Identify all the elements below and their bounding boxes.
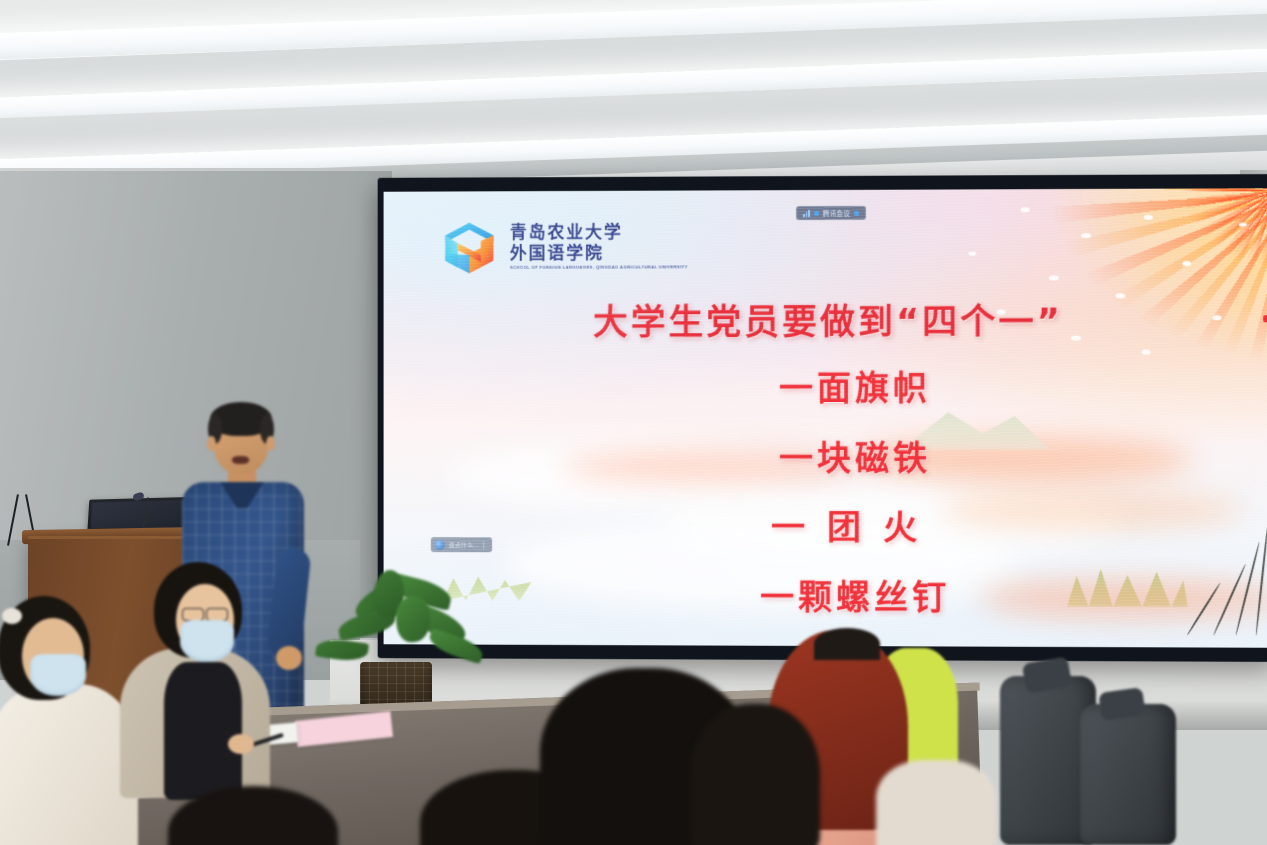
sparkle xyxy=(1182,261,1191,266)
face-mask xyxy=(30,654,86,696)
tencent-meeting-pill[interactable]: 腾讯会议 xyxy=(796,206,866,220)
wall-seam xyxy=(0,168,392,171)
sparkle xyxy=(1021,207,1030,212)
attendee-hair-top xyxy=(814,628,880,660)
slide-line-2: 一块磁铁 xyxy=(411,442,1267,478)
slide-line-4: 一颗螺丝钉 xyxy=(411,580,1267,619)
slide-body-lines: 一面旗帜 一块磁铁 一团火 一颗螺丝钉 xyxy=(384,372,1267,648)
sparkle xyxy=(1239,223,1247,227)
logo-line-1: 青岛农业大学 xyxy=(510,224,688,244)
sparkle xyxy=(1142,350,1151,355)
hair-clip xyxy=(2,608,22,624)
attendee-right-second xyxy=(690,704,820,845)
presenter-mouth xyxy=(232,456,249,464)
attendee-front-left xyxy=(0,596,138,845)
signal-bars-icon xyxy=(803,210,810,217)
status-dot-icon xyxy=(854,210,859,215)
ceiling xyxy=(0,0,1267,180)
sparkle xyxy=(968,252,976,256)
attendee-hair xyxy=(690,704,820,845)
presenter-ear xyxy=(207,436,216,451)
comment-input[interactable]: 说点什么... xyxy=(449,540,480,549)
attendee-jacket xyxy=(0,684,138,845)
sparkle xyxy=(1081,233,1091,238)
attendee-top xyxy=(876,760,996,845)
meeting-comment-bar[interactable]: 说点什么... chevron-right-icon xyxy=(431,537,492,552)
slide-line-3: 一团火 xyxy=(411,511,1267,548)
slide-title: 大学生党员要做到“四个一” xyxy=(384,293,1267,346)
presenter-ear xyxy=(266,436,275,451)
attendee-foreground-far-left xyxy=(168,786,338,845)
attendee-hair xyxy=(168,786,338,845)
sparkle xyxy=(1144,215,1153,220)
tencent-meeting-label: 腾讯会议 xyxy=(823,208,851,218)
attendee-second-left xyxy=(120,566,280,796)
face-mask xyxy=(180,620,234,662)
divider xyxy=(483,541,484,549)
user-avatar-icon xyxy=(435,540,445,550)
recording-dot-icon xyxy=(814,211,819,216)
attendee-hand xyxy=(228,734,254,754)
attendee-right-third xyxy=(876,760,996,845)
qau-s-logo-icon xyxy=(441,219,498,277)
logo-english-name: SCHOOL OF FOREIGN LANGUAGES, QINGDAO AGR… xyxy=(510,265,688,272)
office-chair xyxy=(1080,704,1176,845)
presentation-room-photo: 青岛农业大学 外国语学院 SCHOOL OF FOREIGN LANGUAGES… xyxy=(0,0,1267,845)
attendee-inner-top xyxy=(164,662,242,800)
slide-surface: 青岛农业大学 外国语学院 SCHOOL OF FOREIGN LANGUAGES… xyxy=(384,188,1267,648)
logo-line-2: 外国语学院 xyxy=(510,244,688,264)
sparkle xyxy=(1049,275,1059,280)
slide-line-1: 一面旗帜 xyxy=(411,372,1267,408)
university-logo: 青岛农业大学 外国语学院 SCHOOL OF FOREIGN LANGUAGES… xyxy=(441,218,688,276)
led-wall-screen: 青岛农业大学 外国语学院 SCHOOL OF FOREIGN LANGUAGES… xyxy=(378,174,1267,662)
logo-text-block: 青岛农业大学 外国语学院 SCHOOL OF FOREIGN LANGUAGES… xyxy=(510,224,688,272)
